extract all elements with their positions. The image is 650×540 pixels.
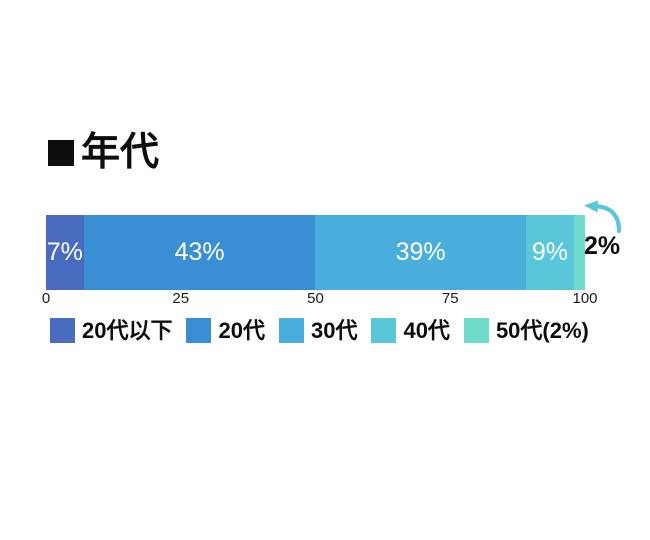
curved-arrow-left-icon [578,200,624,234]
legend-item[interactable]: 20代以下 [50,318,172,343]
chart-title-text: 年代 [81,133,159,172]
bar-segment-label: 43% [175,240,225,265]
axis-tick-label: 100 [572,291,597,306]
x-axis: 0255075100 [46,291,585,311]
legend-item-label: 20代以下 [82,320,172,342]
chart-canvas: 年代 7%43%39%9%2% 0255075100 2% 20代以下20代30… [0,0,650,540]
axis-tick-label: 75 [442,291,459,306]
chart-title: 年代 [48,133,159,172]
legend-swatch [50,318,75,343]
legend-item[interactable]: 30代 [279,318,357,343]
stacked-bar-chart: 7%43%39%9%2% [46,215,585,290]
legend-item-label: 30代 [311,320,357,342]
axis-tick-label: 0 [42,291,50,306]
legend-item-label: 20代 [218,320,264,342]
bar-track: 7%43%39%9%2% [46,215,585,290]
axis-tick-label: 25 [172,291,189,306]
legend-item[interactable]: 20代 [186,318,264,343]
legend-swatch [464,318,489,343]
bar-segment: 7% [46,215,84,290]
legend-swatch [186,318,211,343]
legend-swatch [279,318,304,343]
legend-item[interactable]: 40代 [371,318,449,343]
bar-segment-label: 9% [532,240,568,265]
bar-segment: 43% [84,215,316,290]
legend-item-label: 50代(2%) [496,320,589,342]
chart-legend: 20代以下20代30代40代50代(2%) [50,318,603,343]
callout-2-percent: 2% [578,200,642,270]
title-square-marker [48,140,74,166]
bar-segment: 39% [315,215,525,290]
legend-item[interactable]: 50代(2%) [464,318,589,343]
legend-item-label: 40代 [403,320,449,342]
bar-segment-label: 39% [396,240,446,265]
legend-swatch [371,318,396,343]
bar-segment-label: 7% [47,240,83,265]
axis-tick-label: 50 [307,291,324,306]
callout-label: 2% [584,234,620,259]
bar-segment: 9% [526,215,575,290]
